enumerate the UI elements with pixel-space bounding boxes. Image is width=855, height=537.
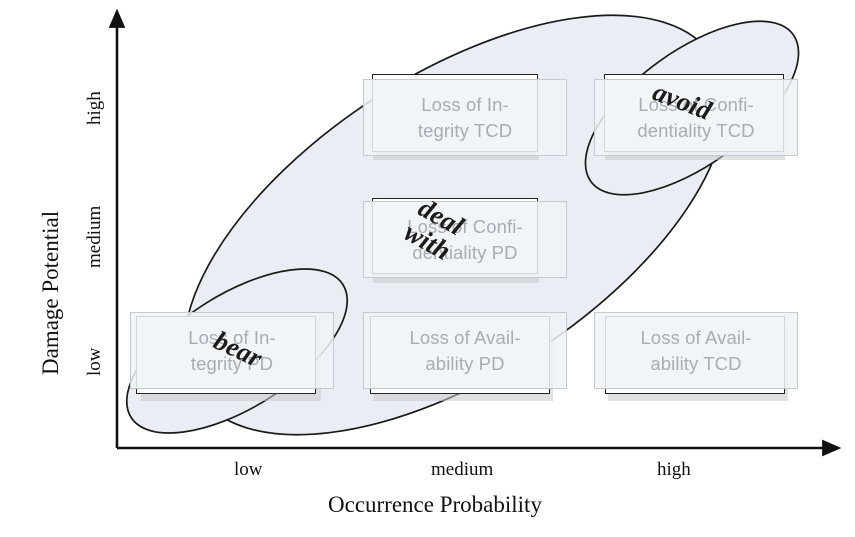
x-tick-medium: medium — [431, 459, 493, 481]
y-tick-medium: medium — [84, 206, 106, 268]
y-tick-high: high — [84, 91, 106, 125]
x-tick-high: high — [657, 459, 691, 481]
y-axis-title: Damage Potential — [38, 211, 64, 375]
x-tick-low: low — [234, 459, 263, 481]
axes-layer — [0, 0, 855, 537]
y-tick-low: low — [84, 348, 106, 377]
risk-matrix-diagram: Loss of In- tegrity TCD Loss of Confi- d… — [0, 0, 855, 537]
x-axis-title: Occurrence Probability — [328, 492, 542, 518]
